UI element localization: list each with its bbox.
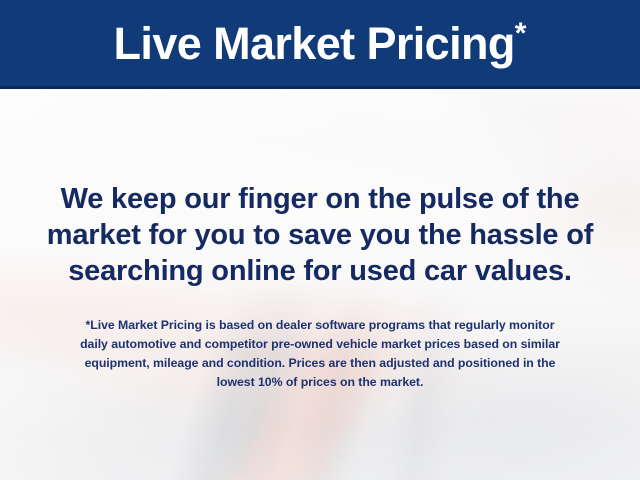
disclaimer-line-3: equipment, mileage and condition. Prices… xyxy=(24,354,616,373)
headline-line-2: market for you to save you the hassle of xyxy=(26,217,614,253)
headline-line-1: We keep our finger on the pulse of the xyxy=(26,181,614,217)
banner-content: We keep our finger on the pulse of the m… xyxy=(0,89,640,480)
headline: We keep our finger on the pulse of the m… xyxy=(0,181,640,289)
live-market-pricing-banner: Live Market Pricing* We keep our finger … xyxy=(0,0,640,480)
disclaimer-line-1: *Live Market Pricing is based on dealer … xyxy=(24,316,616,335)
disclaimer-line-2: daily automotive and competitor pre-owne… xyxy=(24,335,616,354)
header-bar: Live Market Pricing* xyxy=(0,0,640,89)
page-title: Live Market Pricing* xyxy=(114,19,527,66)
headline-line-3: searching online for used car values. xyxy=(26,253,614,289)
disclaimer-line-4: lowest 10% of prices on the market. xyxy=(24,373,616,392)
disclaimer: *Live Market Pricing is based on dealer … xyxy=(0,316,640,392)
page-title-text: Live Market Pricing xyxy=(114,18,515,69)
page-title-footnote-marker: * xyxy=(515,17,527,50)
